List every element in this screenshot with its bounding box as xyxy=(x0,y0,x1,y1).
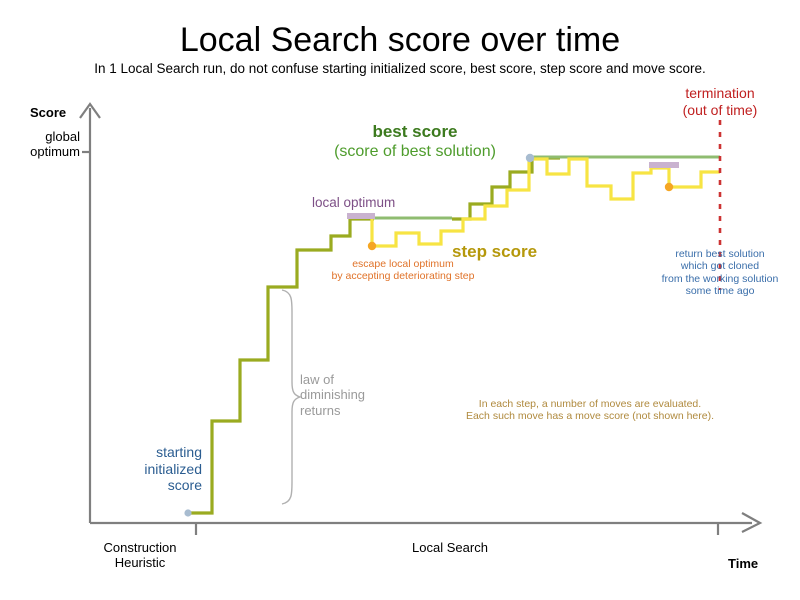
escape-local-optimum-dot xyxy=(368,242,376,250)
x-axis xyxy=(90,513,760,535)
page-subtitle: In 1 Local Search run, do not confuse st… xyxy=(0,61,800,77)
escape-local-optimum-note: escape local optimum by accepting deteri… xyxy=(298,258,508,283)
diminishing-returns-brace xyxy=(282,290,300,504)
x-axis-label: Time xyxy=(728,556,758,571)
second-escape-dot xyxy=(665,183,673,191)
step-score-line xyxy=(372,159,720,246)
move-score-note: In each step, a number of moves are eval… xyxy=(440,398,740,423)
termination-label: termination (out of time) xyxy=(648,85,792,118)
best-score-title: best score xyxy=(290,122,540,142)
x-phase-local-search: Local Search xyxy=(360,540,540,555)
y-axis-label: Score xyxy=(30,105,66,120)
page-title: Local Search score over time xyxy=(0,20,800,60)
return-best-solution-note: return best solution which got cloned fr… xyxy=(648,248,792,298)
starting-initialized-score-dot xyxy=(184,509,191,516)
starting-initialized-score-label: starting initialized score xyxy=(78,444,202,494)
global-optimum-label: global optimum xyxy=(0,129,80,160)
diagram-canvas: Local Search score over time In 1 Local … xyxy=(0,0,800,600)
local-optimum-label: local optimum xyxy=(312,195,395,211)
best-score-subtitle: (score of best solution) xyxy=(290,143,540,162)
x-phase-construction-heuristic: Construction Heuristic xyxy=(86,540,194,571)
law-of-diminishing-returns-label: law of diminishing returns xyxy=(300,372,400,418)
